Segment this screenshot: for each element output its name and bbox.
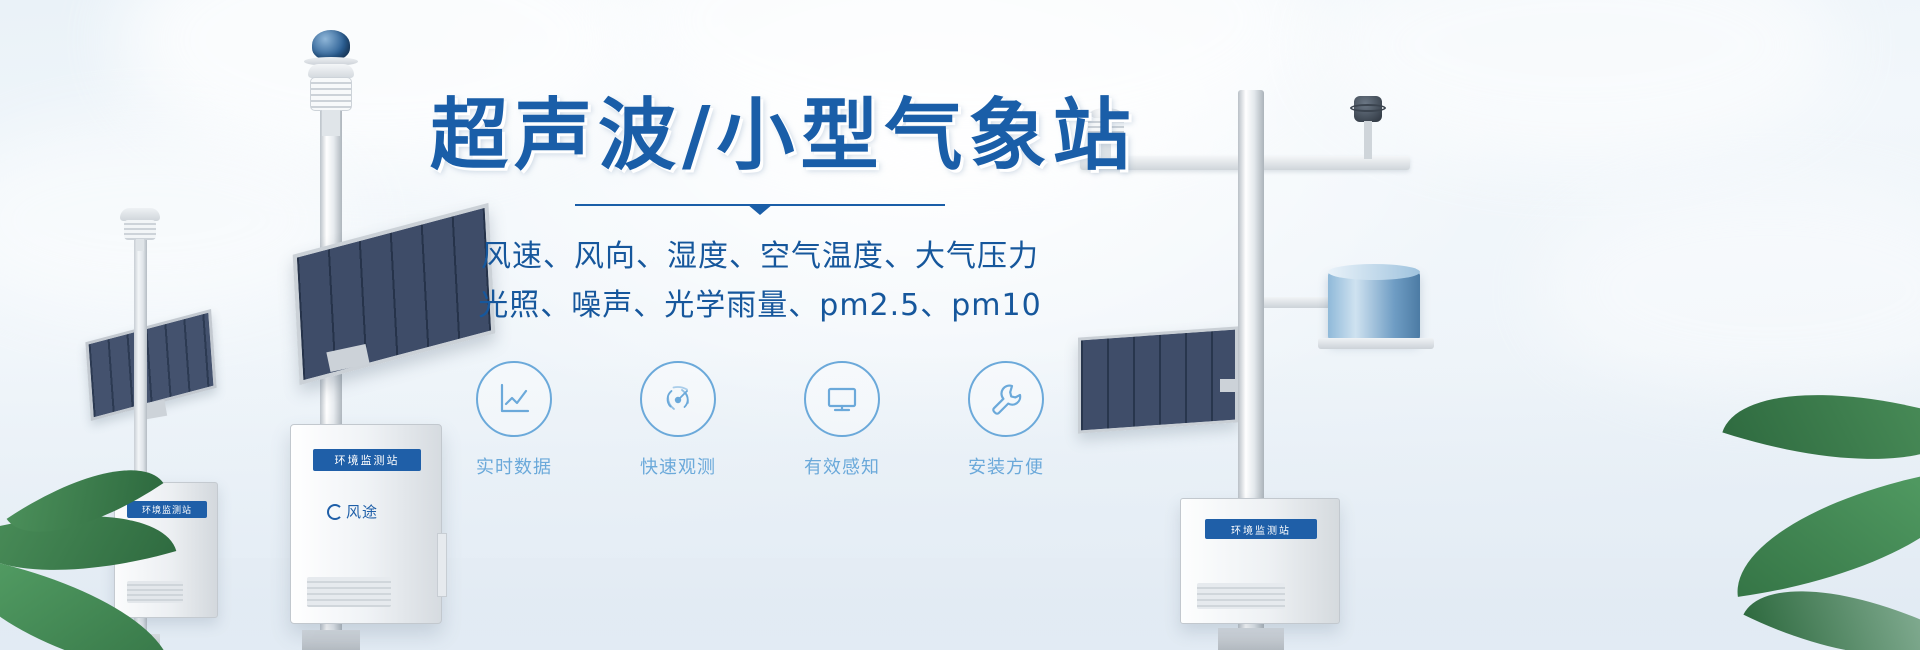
- feature-item-fast-observation[interactable]: 快速观测: [619, 361, 737, 479]
- feature-item-realtime-data[interactable]: 实时数据: [455, 361, 573, 479]
- banner-title: 超声波/小型气象站: [430, 96, 1090, 178]
- monitor-icon: [804, 361, 880, 437]
- cabinet-vent: [1197, 583, 1285, 609]
- cabinet-nameplate: 环境监测站: [1205, 519, 1317, 539]
- brand-logo: 风途: [327, 501, 378, 522]
- feature-label: 快速观测: [619, 453, 737, 479]
- solar-panel: [1078, 326, 1238, 433]
- title-divider: [575, 204, 945, 206]
- radar-target-icon: [640, 361, 716, 437]
- subtitle-line-2: 光照、噪声、光学雨量、pm2.5、pm10: [430, 281, 1090, 331]
- feature-item-easy-installation[interactable]: 安装方便: [947, 361, 1065, 479]
- radiation-shield-sensor: [118, 208, 162, 250]
- rain-gauge-arm: [1260, 297, 1338, 308]
- rain-gauge: [1328, 262, 1420, 350]
- wrench-icon: [968, 361, 1044, 437]
- cabinet-nameplate: 环境监测站: [313, 449, 421, 471]
- feature-list: 实时数据 快速观测: [430, 361, 1090, 479]
- banner-content: 超声波/小型气象站 风速、风向、湿度、空气温度、大气压力 光照、噪声、光学雨量、…: [430, 96, 1090, 479]
- ultrasonic-sensor-head: [298, 30, 364, 140]
- feature-item-effective-sensing[interactable]: 有效感知: [783, 361, 901, 479]
- cabinet-nameplate: 环境监测站: [127, 501, 207, 518]
- controller-cabinet: 环境监测站 风途: [290, 424, 442, 624]
- banner-subtitle: 风速、风向、湿度、空气温度、大气压力 光照、噪声、光学雨量、pm2.5、pm10: [430, 232, 1090, 331]
- wind-sensor: [1350, 96, 1386, 158]
- cabinet-nameplate-text: 环境监测站: [335, 452, 400, 468]
- mast-base: [1218, 628, 1284, 650]
- sensor-dome: [312, 30, 350, 60]
- controller-cabinet: 环境监测站: [1180, 498, 1340, 624]
- feature-label: 实时数据: [455, 453, 573, 479]
- feature-label: 有效感知: [783, 453, 901, 479]
- cabinet-vent: [127, 581, 183, 603]
- left-weather-station: 环境监测站 风途: [96, 170, 276, 650]
- brand-logo-text: 风途: [346, 501, 378, 522]
- cabinet-door-edge: [437, 533, 447, 597]
- cabinet-nameplate-text: 环境监测站: [142, 503, 192, 516]
- subtitle-line-1: 风速、风向、湿度、空气温度、大气压力: [430, 232, 1090, 282]
- line-chart-icon: [476, 361, 552, 437]
- product-banner: 环境监测站 风途 环境监测站 风途: [0, 0, 1920, 650]
- feature-label: 安装方便: [947, 453, 1065, 479]
- cabinet-nameplate-text: 环境监测站: [1231, 522, 1291, 537]
- mast-base: [302, 630, 360, 650]
- cabinet-vent: [307, 577, 391, 607]
- brand-mark-icon: [327, 504, 343, 520]
